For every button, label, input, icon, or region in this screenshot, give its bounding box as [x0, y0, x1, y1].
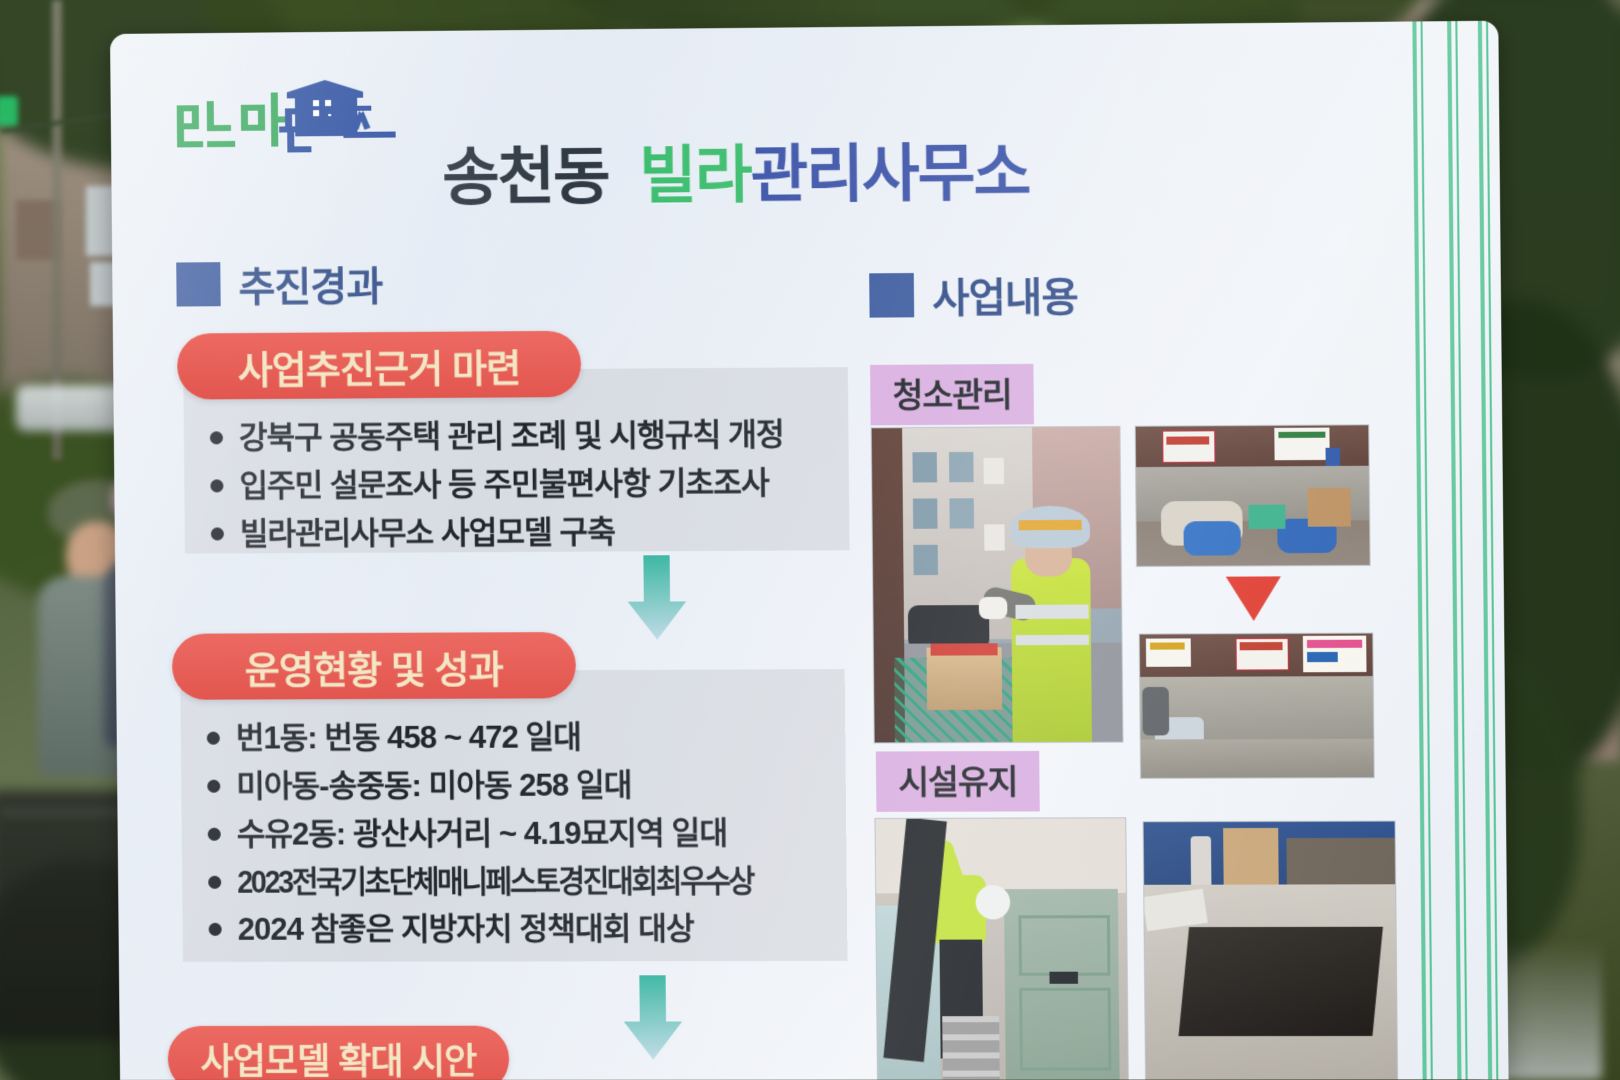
photo-pavement-repair: [1143, 821, 1399, 1080]
title-part-villa: 빌라: [639, 141, 751, 211]
bullet-dot-icon: [207, 780, 220, 793]
section-heading-business: 사업내용: [869, 265, 1078, 325]
section-heading-label: 사업내용: [932, 265, 1078, 325]
photo-plywood: [1223, 828, 1279, 891]
block-pill-1: 사업추진근거 마련: [177, 331, 581, 400]
list-item: 수유2동: 광산사거리 ~ 4.19묘지역 일대: [208, 812, 823, 856]
title-part-district: 송천동: [442, 143, 609, 214]
bullet-dot-icon: [208, 827, 221, 840]
photo-cardboard-box: [927, 647, 1003, 710]
square-bullet-icon: [869, 273, 914, 318]
photo-light-globe: [975, 885, 1010, 919]
section-heading-label: 추진경과: [238, 254, 382, 313]
traffic-light-icon: [0, 96, 18, 126]
photo-cardboard: [1308, 488, 1351, 527]
photo-worker-replacing-light-fixture: [874, 817, 1128, 1080]
photo-bicycle: [1142, 687, 1169, 736]
photo-gloves: [979, 597, 1008, 619]
bullet-dot-icon: [209, 923, 222, 936]
list-item: 2024 참좋은 지방자치 정책대회 대상: [208, 908, 823, 951]
photo-green-box: [1249, 505, 1286, 529]
list-item: 강북구 공동주택 관리 조례 및 시행규칙 개정: [210, 414, 825, 460]
bullet-dot-icon: [207, 732, 220, 745]
tag-cleaning-management: 청소관리: [870, 364, 1034, 425]
tag-facility-maintenance: 시설유지: [876, 751, 1040, 812]
section-heading-progress: 추진경과: [176, 254, 382, 314]
photo-reflective-band: [1016, 635, 1089, 645]
flow-arrow-down-icon: [621, 975, 684, 1061]
bullet-dot-icon: [208, 875, 221, 888]
before-after-arrow-icon: [1226, 576, 1282, 621]
title-part-office: 관리사무소: [750, 139, 1030, 211]
list-item: 입주민 설문조사 등 주민불편사항 기초조사: [210, 462, 825, 507]
photo-notice-poster: [1162, 430, 1215, 463]
block-pill-2: 운영현황 및 성과: [172, 632, 576, 700]
bullet-dot-icon: [211, 527, 224, 540]
photo-clean-ground: [1141, 739, 1374, 778]
square-bullet-icon: [176, 262, 220, 306]
photo-alley-trash-after: [1139, 633, 1375, 779]
block-panel-2: 번1동: 번동 458 ~ 472 일대 미아동-송중동: 미아동 258 일대…: [180, 669, 847, 962]
bullet-dot-icon: [210, 431, 223, 444]
photo-reflective-band: [1015, 605, 1088, 619]
photo-excavated-trench: [1179, 927, 1383, 1036]
page-title: 송천동 빌라관리사무소: [442, 120, 1222, 217]
list-item: 미아동-송중동: 미아동 258 일대: [207, 764, 822, 808]
photo-worker-body: [1011, 558, 1092, 742]
photo-blue-trash-bag: [1183, 521, 1240, 556]
list-item: 2023전국기초단체매니페스토경진대회최우수상: [208, 860, 823, 903]
photo-worker-sorting-recyclables: [871, 426, 1124, 744]
list-item: 빌라관리사무소 사업모델 구축: [211, 510, 826, 555]
photo-alley-trash-before: [1135, 424, 1371, 567]
photo-ladder: [942, 1016, 999, 1080]
bullet-dot-icon: [210, 479, 223, 492]
photo-door-number-plate: [1049, 972, 1078, 984]
block-pill-3: 사업모델 확대 시안: [168, 1026, 510, 1080]
villa-management-office-logo: [174, 77, 405, 165]
list-item: 번1동: 번동 458 ~ 472 일대: [207, 715, 822, 759]
photo-debris: [1286, 838, 1395, 887]
information-signboard: 송천동 빌라관리사무소 추진경과 사업내용 사업추진근거 마련 강북구 공동주택…: [110, 21, 1509, 1080]
flow-arrow-down-icon: [625, 555, 688, 642]
